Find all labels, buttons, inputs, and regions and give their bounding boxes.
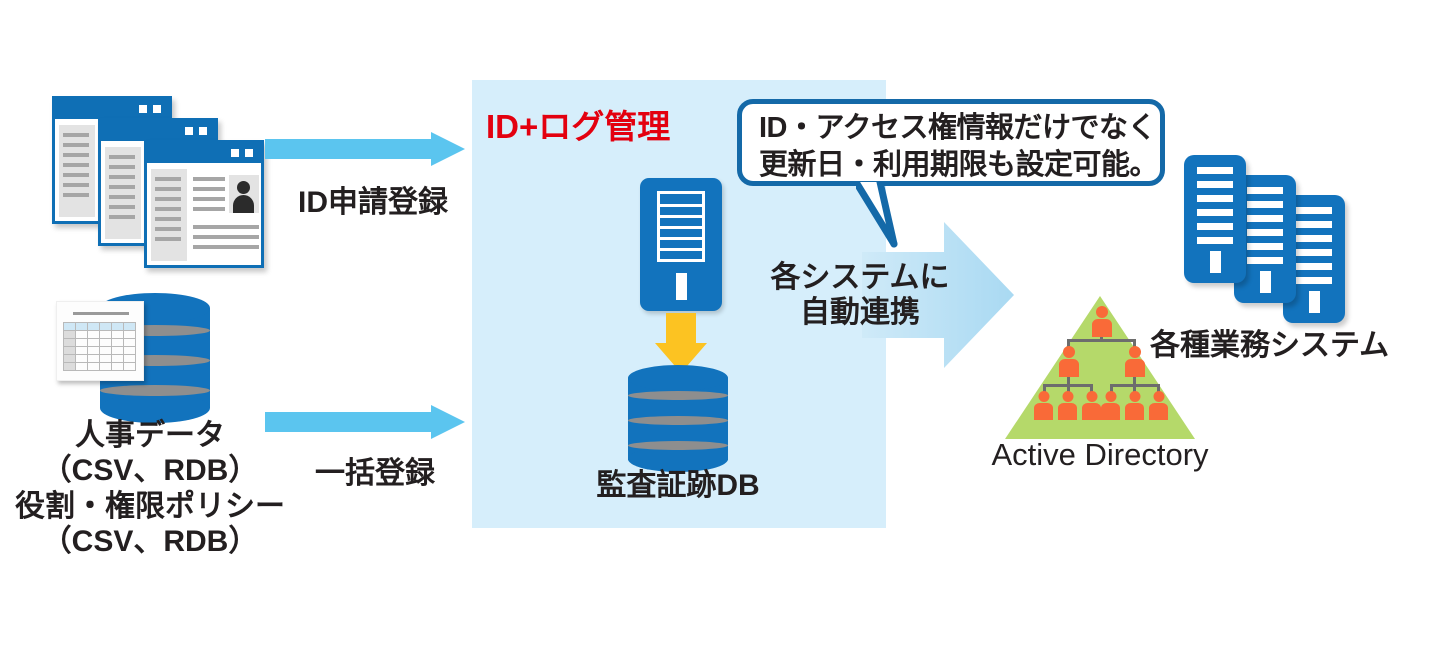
hr-database-icon	[100, 293, 210, 423]
callout-line-1: ID・アクセス権情報だけでなく	[759, 110, 1158, 147]
arrow-label-bulk-register: 一括登録	[280, 456, 470, 491]
business-systems-label: 各種業務システム	[1150, 328, 1430, 363]
hr-data-label: 人事データ （CSV、RDB） 役割・権限ポリシー （CSV、RDB）	[5, 418, 295, 560]
person-icon-mid-1	[1055, 346, 1083, 376]
audit-db-label: 監査証跡DB	[578, 468, 778, 503]
person-icon-leaf-5	[1123, 391, 1147, 419]
auto-link-label: 各システムに 自動連携	[755, 260, 965, 331]
diagram-canvas: ID申請登録 人事データ （CSV、RDB） 役割・権限ポリシー （CSV、RD…	[0, 0, 1430, 664]
server-icon	[640, 178, 722, 311]
spreadsheet-icon	[56, 301, 144, 381]
auto-link-line-1: 各システムに	[755, 260, 965, 295]
person-icon-mid-2	[1121, 346, 1149, 376]
page-title: ID+ログ管理	[486, 100, 670, 148]
id-application-cards-icon	[52, 96, 262, 268]
database-cylinder-icon	[628, 365, 728, 472]
bulk-register-arrow-icon	[265, 405, 465, 439]
down-arrow-icon	[655, 313, 707, 373]
arrow-label-id-application: ID申請登録	[258, 185, 488, 220]
person-icon-leaf-6	[1147, 391, 1171, 419]
hr-label-line-4: （CSV、RDB）	[5, 524, 295, 559]
active-directory-label: Active Directory	[985, 437, 1215, 473]
multi-server-icon	[1178, 155, 1363, 330]
hr-label-line-1: 人事データ	[5, 418, 295, 453]
hr-label-line-2: （CSV、RDB）	[5, 453, 295, 488]
auto-link-line-2: 自動連携	[755, 295, 965, 330]
callout-bubble: ID・アクセス権情報だけでなく 更新日・利用期限も設定可能。	[737, 99, 1165, 186]
id-card-3	[144, 140, 264, 268]
person-icon-leaf-1	[1032, 391, 1056, 419]
callout-line-2: 更新日・利用期限も設定可能。	[759, 147, 1158, 184]
server-icon-1	[1184, 155, 1246, 283]
person-icon-leaf-2	[1056, 391, 1080, 419]
person-icon-top	[1088, 306, 1116, 336]
id-application-arrow-icon	[265, 132, 465, 166]
person-icon-leaf-4	[1099, 391, 1123, 419]
hr-label-line-3: 役割・権限ポリシー	[5, 489, 295, 524]
